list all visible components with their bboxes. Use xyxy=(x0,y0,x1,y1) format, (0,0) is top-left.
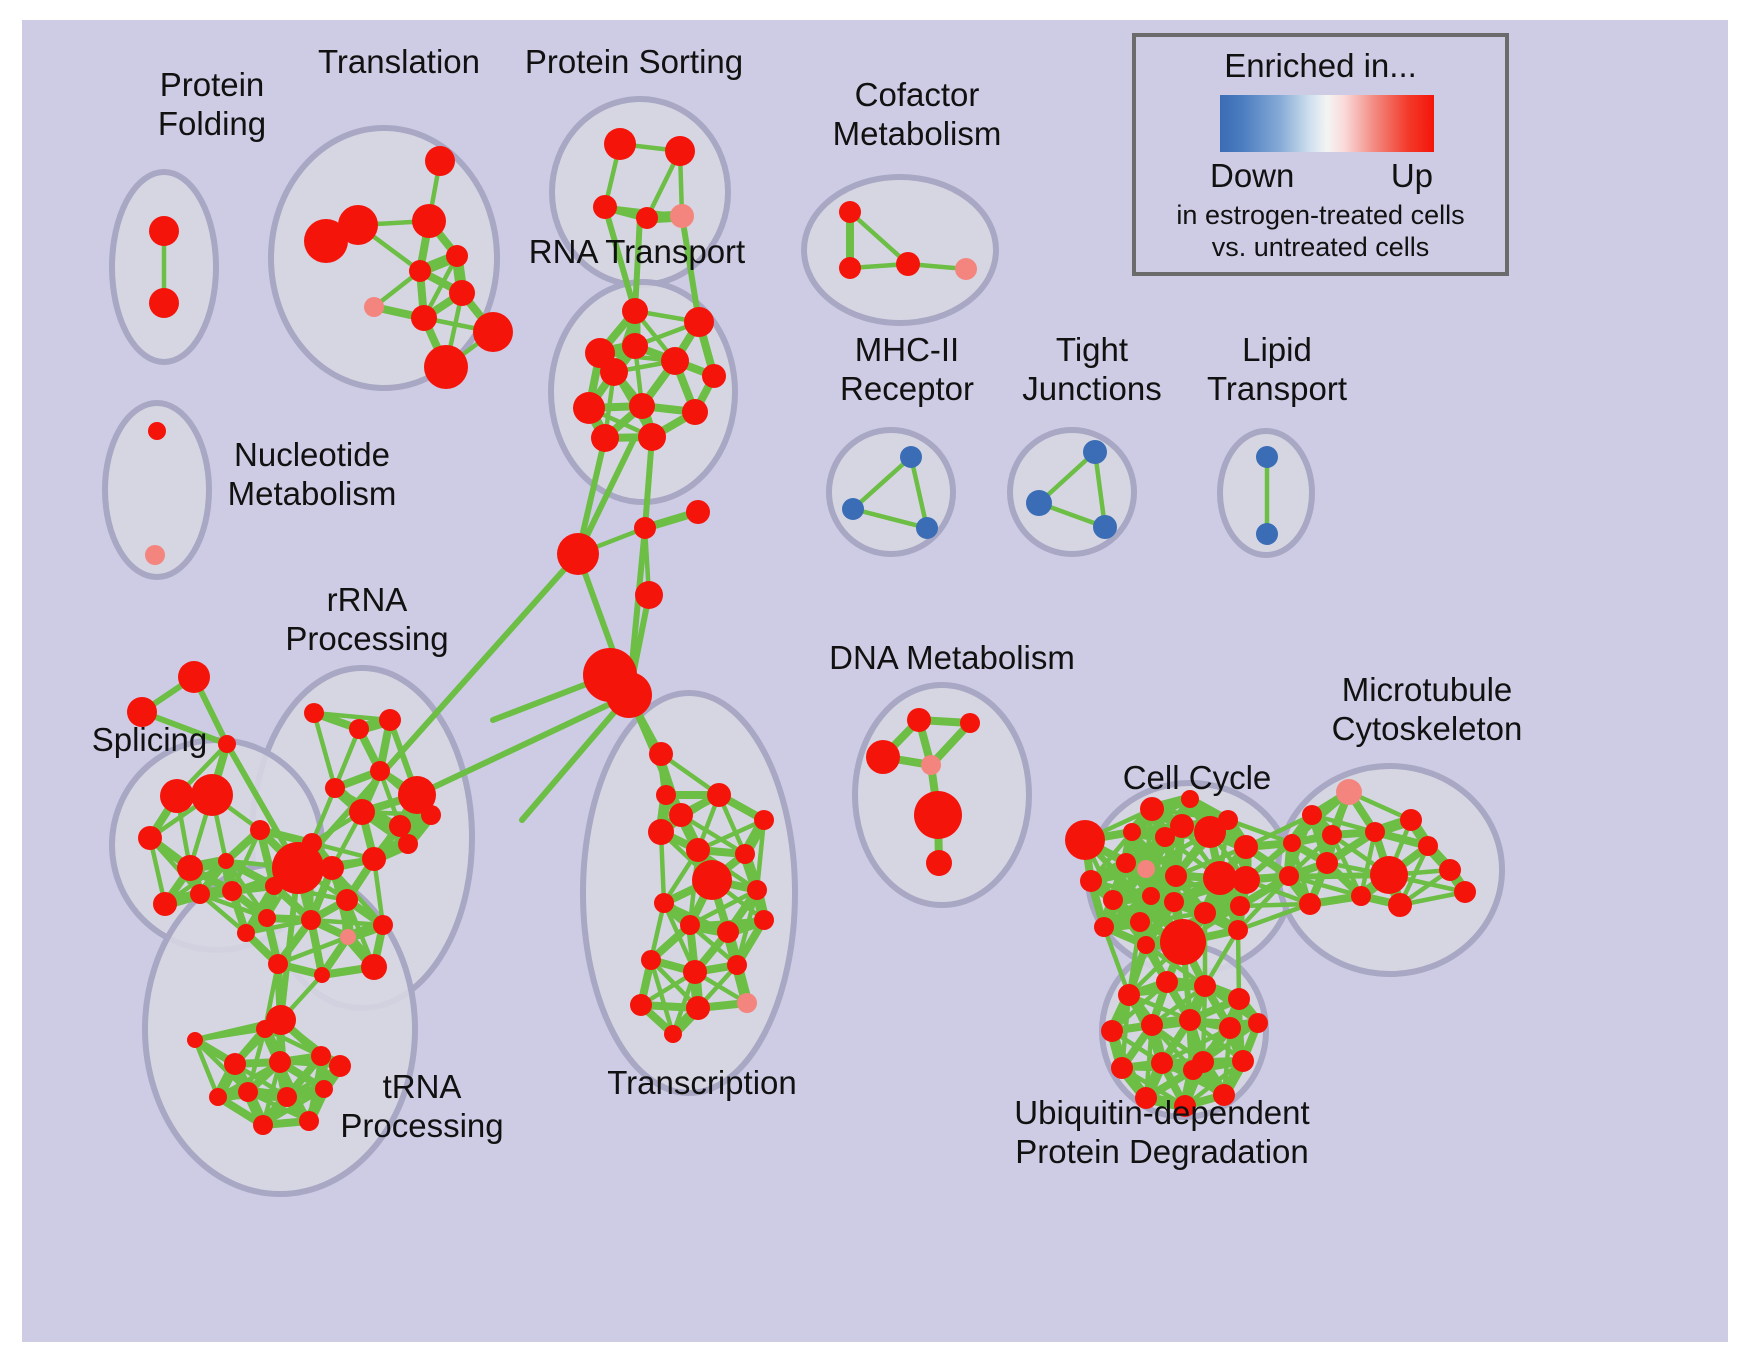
gene-set-node[interactable] xyxy=(1299,893,1321,915)
gene-set-node[interactable] xyxy=(606,672,652,718)
cluster-label-lipid-transport: LipidTransport xyxy=(1182,330,1372,408)
gene-set-node[interactable] xyxy=(1316,852,1338,874)
cluster-label-ubiquitin-protein-degradation: Ubiquitin-dependentProtein Degradation xyxy=(977,1093,1347,1171)
gene-set-node[interactable] xyxy=(389,815,411,837)
gene-set-node[interactable] xyxy=(686,996,710,1020)
gene-set-node[interactable] xyxy=(1256,446,1278,468)
gene-set-node[interactable] xyxy=(311,1046,331,1066)
gene-set-node[interactable] xyxy=(253,1115,273,1135)
gene-set-node[interactable] xyxy=(1026,490,1052,516)
gene-set-node[interactable] xyxy=(1111,1057,1133,1079)
gene-set-node[interactable] xyxy=(1103,890,1123,910)
cluster-label-microtubule-cytoskeleton: MicrotubuleCytoskeleton xyxy=(1307,670,1547,748)
gene-set-node[interactable] xyxy=(842,498,864,520)
gene-set-node[interactable] xyxy=(277,1087,297,1107)
gene-set-node[interactable] xyxy=(629,393,655,419)
gene-set-node[interactable] xyxy=(692,860,732,900)
gene-set-node[interactable] xyxy=(446,245,468,267)
gene-set-node[interactable] xyxy=(707,783,731,807)
gene-set-node[interactable] xyxy=(373,915,393,935)
gene-set-node[interactable] xyxy=(1101,1020,1123,1042)
gene-set-node[interactable] xyxy=(222,881,242,901)
gene-set-node[interactable] xyxy=(960,713,980,733)
gene-set-node[interactable] xyxy=(600,358,628,386)
gene-set-node[interactable] xyxy=(1140,797,1164,821)
gene-set-node[interactable] xyxy=(304,703,324,723)
gene-set-node[interactable] xyxy=(268,954,288,974)
gene-set-node[interactable] xyxy=(1094,917,1114,937)
gene-set-node[interactable] xyxy=(669,803,693,827)
gene-set-node[interactable] xyxy=(1179,1009,1201,1031)
gene-set-node[interactable] xyxy=(269,1051,291,1073)
gene-set-node[interactable] xyxy=(670,204,694,228)
gene-set-node[interactable] xyxy=(754,810,774,830)
gene-set-node[interactable] xyxy=(336,889,358,911)
gene-set-node[interactable] xyxy=(839,201,861,223)
gene-set-node[interactable] xyxy=(1130,912,1150,932)
legend-down-label: Down xyxy=(1210,157,1294,195)
cluster-label-dna-metabolism: DNA Metabolism xyxy=(817,638,1087,677)
gene-set-node[interactable] xyxy=(727,955,747,975)
gene-set-node[interactable] xyxy=(1164,892,1184,912)
gene-set-node[interactable] xyxy=(1336,779,1362,805)
gene-set-node[interactable] xyxy=(900,446,922,468)
network-canvas: Enriched in... Down Up in estrogen-treat… xyxy=(22,20,1728,1342)
gene-set-node[interactable] xyxy=(449,280,475,306)
gene-set-node[interactable] xyxy=(138,826,162,850)
gene-set-node[interactable] xyxy=(364,297,384,317)
gene-set-node[interactable] xyxy=(866,740,900,774)
gene-set-node[interactable] xyxy=(1370,856,1408,894)
gene-set-node[interactable] xyxy=(301,910,321,930)
gene-set-node[interactable] xyxy=(1065,820,1105,860)
gene-set-node[interactable] xyxy=(557,533,599,575)
gene-set-node[interactable] xyxy=(1160,919,1206,965)
gene-set-node[interactable] xyxy=(914,791,962,839)
legend-up-label: Up xyxy=(1391,157,1433,195)
gene-set-node[interactable] xyxy=(717,921,739,943)
cluster-label-cofactor-metabolism: CofactorMetabolism xyxy=(797,75,1037,153)
gene-set-node[interactable] xyxy=(1454,881,1476,903)
gene-set-node[interactable] xyxy=(1142,887,1160,905)
gene-set-node[interactable] xyxy=(593,195,617,219)
gene-set-node[interactable] xyxy=(682,399,708,425)
gene-set-node[interactable] xyxy=(622,298,648,324)
gene-set-node[interactable] xyxy=(1365,822,1385,842)
gene-set-node[interactable] xyxy=(1151,1052,1173,1074)
gene-set-node[interactable] xyxy=(1156,971,1178,993)
gene-set-node[interactable] xyxy=(1418,836,1438,856)
gene-set-node[interactable] xyxy=(149,216,179,246)
gene-set-node[interactable] xyxy=(656,785,676,805)
gene-set-node[interactable] xyxy=(622,333,648,359)
gene-set-node[interactable] xyxy=(1118,984,1140,1006)
cluster-label-splicing: Splicing xyxy=(62,720,237,759)
gene-set-node[interactable] xyxy=(654,893,674,913)
gene-set-node[interactable] xyxy=(735,844,755,864)
gene-set-node[interactable] xyxy=(921,755,941,775)
gene-set-node[interactable] xyxy=(1439,859,1461,881)
gene-set-node[interactable] xyxy=(747,880,767,900)
gene-set-node[interactable] xyxy=(224,1053,246,1075)
gene-set-node[interactable] xyxy=(916,517,938,539)
gene-set-node[interactable] xyxy=(634,517,656,539)
gene-set-node[interactable] xyxy=(149,288,179,318)
gene-set-node[interactable] xyxy=(349,799,375,825)
gene-set-node[interactable] xyxy=(237,924,255,942)
gene-set-node[interactable] xyxy=(686,838,710,862)
gene-set-node[interactable] xyxy=(1248,1013,1268,1033)
gene-set-node[interactable] xyxy=(1080,870,1102,892)
color-scale-bar xyxy=(1220,95,1434,152)
cluster-label-trna-processing: tRNAProcessing xyxy=(312,1067,532,1145)
gene-set-node[interactable] xyxy=(1400,809,1422,831)
gene-set-node[interactable] xyxy=(665,136,695,166)
gene-set-node[interactable] xyxy=(686,500,710,524)
cluster-label-cell-cycle: Cell Cycle xyxy=(1097,758,1297,797)
gene-set-node[interactable] xyxy=(272,842,324,894)
cluster-hull-cofactor-metabolism xyxy=(804,177,996,323)
gene-set-node[interactable] xyxy=(425,146,455,176)
gene-set-node[interactable] xyxy=(304,219,348,263)
gene-set-node[interactable] xyxy=(1093,515,1117,539)
gene-set-node[interactable] xyxy=(1351,886,1371,906)
gene-set-node[interactable] xyxy=(1141,1014,1163,1036)
gene-set-node[interactable] xyxy=(177,855,203,881)
gene-set-node[interactable] xyxy=(1302,805,1322,825)
cluster-hull-tight-junctions xyxy=(1010,430,1134,554)
gene-set-node[interactable] xyxy=(649,742,673,766)
legend-title: Enriched in... xyxy=(1136,47,1505,85)
cluster-label-mhc-ii-receptor: MHC-IIReceptor xyxy=(812,330,1002,408)
gene-set-node[interactable] xyxy=(702,364,726,388)
gene-set-node[interactable] xyxy=(1194,975,1216,997)
gene-set-node[interactable] xyxy=(839,257,861,279)
gene-set-node[interactable] xyxy=(680,915,700,935)
gene-set-node[interactable] xyxy=(1137,860,1155,878)
gene-set-node[interactable] xyxy=(1194,816,1226,848)
gene-set-node[interactable] xyxy=(190,884,210,904)
gene-set-node[interactable] xyxy=(684,307,714,337)
gene-set-node[interactable] xyxy=(1194,902,1216,924)
gene-set-node[interactable] xyxy=(1230,896,1250,916)
gene-set-node[interactable] xyxy=(754,910,774,930)
gene-set-node[interactable] xyxy=(411,305,437,331)
gene-set-node[interactable] xyxy=(409,260,431,282)
gene-set-node[interactable] xyxy=(1203,861,1237,895)
gene-set-node[interactable] xyxy=(1228,920,1248,940)
gene-set-node[interactable] xyxy=(638,423,666,451)
gene-set-node[interactable] xyxy=(148,422,166,440)
gene-set-node[interactable] xyxy=(370,761,390,781)
gene-set-node[interactable] xyxy=(349,719,369,739)
gene-set-node[interactable] xyxy=(1232,1050,1254,1072)
gene-set-node[interactable] xyxy=(926,850,952,876)
gene-set-node[interactable] xyxy=(325,778,345,798)
gene-set-node[interactable] xyxy=(153,892,177,916)
gene-set-node[interactable] xyxy=(145,545,165,565)
gene-set-node[interactable] xyxy=(1170,814,1194,838)
gene-set-node[interactable] xyxy=(573,392,605,424)
gene-set-node[interactable] xyxy=(421,805,441,825)
gene-set-node[interactable] xyxy=(604,128,636,160)
gene-set-node[interactable] xyxy=(187,1032,203,1048)
cluster-label-protein-sorting: Protein Sorting xyxy=(504,42,764,81)
gene-set-node[interactable] xyxy=(1279,866,1299,886)
gene-set-node[interactable] xyxy=(379,709,401,731)
gene-set-node[interactable] xyxy=(1388,893,1412,917)
gene-set-node[interactable] xyxy=(314,967,330,983)
gene-set-node[interactable] xyxy=(258,909,276,927)
cluster-label-nucleotide-metabolism: NucleotideMetabolism xyxy=(197,435,427,513)
gene-set-node[interactable] xyxy=(160,779,194,813)
gene-set-node[interactable] xyxy=(1116,853,1136,873)
gene-set-node[interactable] xyxy=(636,207,658,229)
gene-set-node[interactable] xyxy=(661,347,689,375)
gene-set-node[interactable] xyxy=(896,252,920,276)
gene-set-node[interactable] xyxy=(191,774,233,816)
cluster-label-rrna-processing: rRNAProcessing xyxy=(267,580,467,658)
gene-set-node[interactable] xyxy=(1283,834,1301,852)
gene-set-node[interactable] xyxy=(424,345,468,389)
gene-set-node[interactable] xyxy=(238,1082,258,1102)
gene-set-node[interactable] xyxy=(1123,823,1141,841)
gene-set-node[interactable] xyxy=(209,1088,227,1106)
gene-set-node[interactable] xyxy=(1137,936,1155,954)
gene-set-node[interactable] xyxy=(473,312,513,352)
gene-set-node[interactable] xyxy=(683,960,707,984)
cluster-label-translation: Translation xyxy=(284,42,514,81)
gene-set-node[interactable] xyxy=(361,954,387,980)
gene-set-node[interactable] xyxy=(1234,835,1258,859)
gene-set-node[interactable] xyxy=(1083,440,1107,464)
gene-set-node[interactable] xyxy=(250,820,270,840)
gene-set-node[interactable] xyxy=(648,819,674,845)
gene-set-node[interactable] xyxy=(664,1025,682,1043)
gene-set-node[interactable] xyxy=(1256,523,1278,545)
gene-set-node[interactable] xyxy=(1219,1017,1241,1039)
gene-set-node[interactable] xyxy=(635,581,663,609)
gene-set-node[interactable] xyxy=(1183,1060,1203,1080)
gene-set-node[interactable] xyxy=(737,993,757,1013)
legend-caption: in estrogen-treated cellsvs. untreated c… xyxy=(1136,199,1505,263)
legend-box: Enriched in... Down Up in estrogen-treat… xyxy=(1132,33,1509,276)
gene-set-node[interactable] xyxy=(1228,988,1250,1010)
figure-root: Enriched in... Down Up in estrogen-treat… xyxy=(0,0,1750,1360)
gene-set-node[interactable] xyxy=(1322,825,1342,845)
gene-set-node[interactable] xyxy=(398,834,418,854)
gene-set-node[interactable] xyxy=(362,847,386,871)
cluster-label-transcription: Transcription xyxy=(577,1063,827,1102)
cluster-label-tight-junctions: TightJunctions xyxy=(997,330,1187,408)
gene-set-node[interactable] xyxy=(412,204,446,238)
gene-set-node[interactable] xyxy=(630,994,652,1016)
gene-set-node[interactable] xyxy=(591,424,619,452)
gene-set-node[interactable] xyxy=(218,853,234,869)
gene-set-node[interactable] xyxy=(256,1020,274,1038)
gene-set-node[interactable] xyxy=(1165,865,1187,887)
gene-set-node[interactable] xyxy=(907,708,931,732)
gene-set-node[interactable] xyxy=(641,950,661,970)
gene-set-node[interactable] xyxy=(1232,866,1260,894)
gene-set-node[interactable] xyxy=(178,661,210,693)
gene-set-node[interactable] xyxy=(955,258,977,280)
gene-set-node[interactable] xyxy=(340,929,356,945)
cluster-label-rna-transport: RNA Transport xyxy=(512,232,762,271)
